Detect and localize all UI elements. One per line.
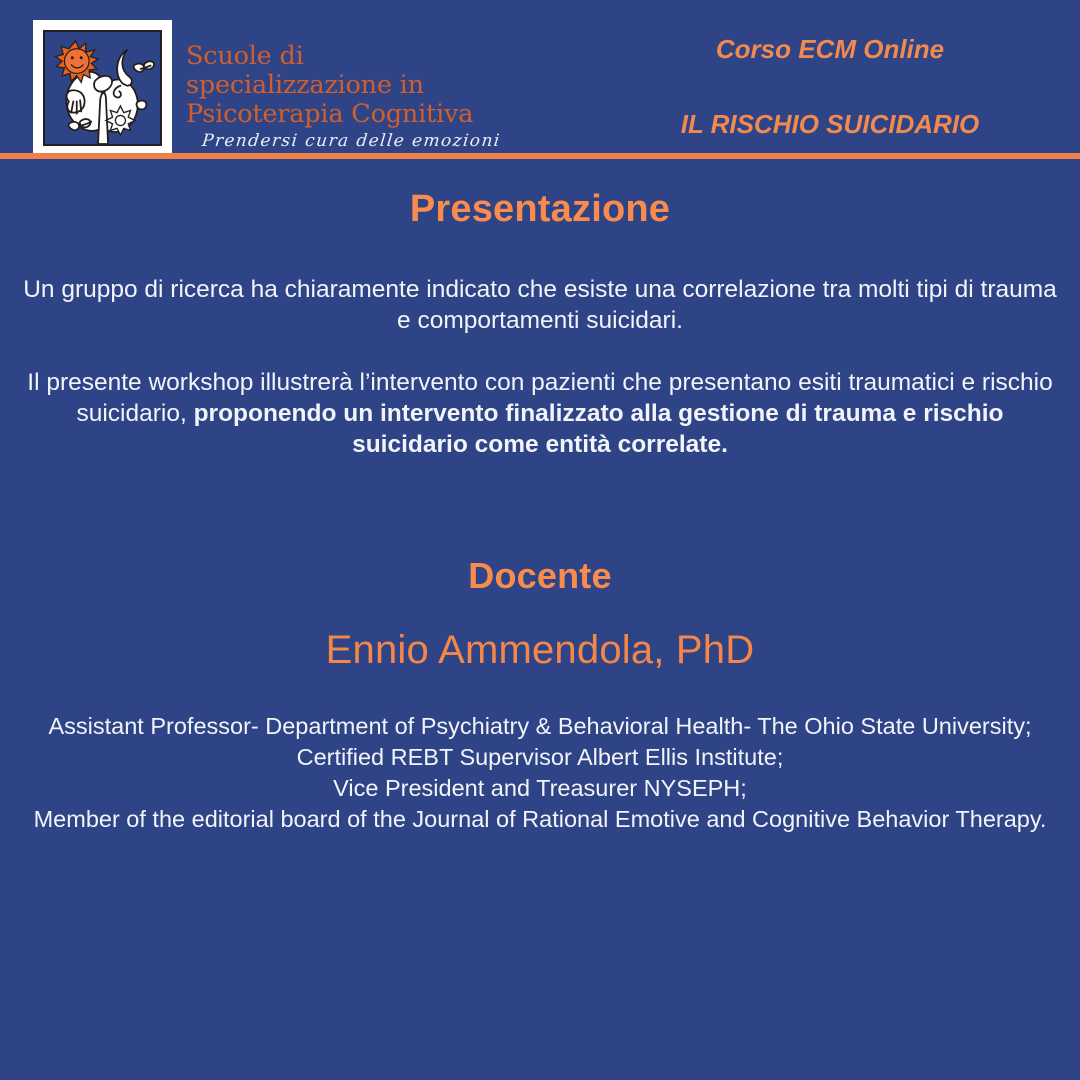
presentazione-paragraph-1: Un gruppo di ricerca ha chiaramente indi… xyxy=(0,274,1080,336)
brand-line-2: specializzazione in xyxy=(186,71,501,100)
bio-line: Vice President and Treasurer NYSEPH; xyxy=(20,773,1060,804)
course-name-title: IL RISCHIO SUICIDARIO xyxy=(600,109,1060,140)
page-header: Scuole di specializzazione in Psicoterap… xyxy=(0,0,1080,158)
bio-line: Assistant Professor- Department of Psych… xyxy=(20,711,1060,742)
logo-artwork xyxy=(43,30,162,146)
bio-line: Certified REBT Supervisor Albert Ellis I… xyxy=(20,742,1060,773)
bio-line: Member of the editorial board of the Jou… xyxy=(20,804,1060,835)
brand-wordmark: Scuole di specializzazione in Psicoterap… xyxy=(186,20,501,151)
star-flower-icon xyxy=(106,106,135,135)
brand-line-1: Scuole di xyxy=(186,42,501,71)
docente-section: Docente Ennio Ammendola, PhD Assistant P… xyxy=(0,555,1080,835)
presentazione-heading: Presentazione xyxy=(0,188,1080,231)
course-type-label: Corso ECM Online xyxy=(600,34,1060,65)
logo-mark xyxy=(33,20,172,156)
docente-heading: Docente xyxy=(0,555,1080,597)
paragraph-2-bold: proponendo un intervento finalizzato all… xyxy=(194,400,1004,458)
presentazione-paragraph-2: Il presente workshop illustrerà l’interv… xyxy=(0,367,1080,460)
brand-block: Scuole di specializzazione in Psicoterap… xyxy=(33,20,501,156)
brand-tagline: Prendersi cura delle emozioni xyxy=(201,131,502,151)
logo-illustration-svg xyxy=(45,32,160,144)
main-content: Presentazione Un gruppo di ricerca ha ch… xyxy=(0,159,1080,835)
docente-name: Ennio Ammendola, PhD xyxy=(0,628,1080,673)
header-course-info: Corso ECM Online IL RISCHIO SUICIDARIO xyxy=(600,0,1060,140)
docente-bio: Assistant Professor- Department of Psych… xyxy=(0,711,1080,835)
brand-line-3: Psicoterapia Cognitiva xyxy=(186,100,501,129)
